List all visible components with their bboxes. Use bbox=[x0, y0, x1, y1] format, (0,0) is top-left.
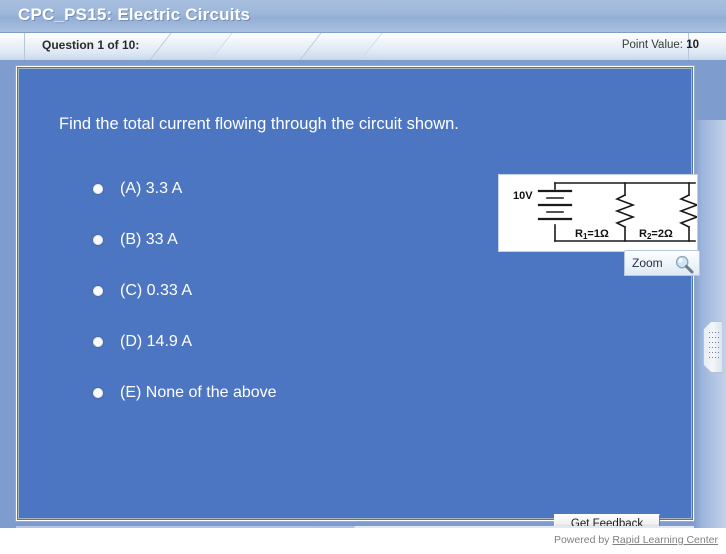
answer-option-a[interactable]: (A) 3.3 A bbox=[93, 180, 473, 231]
answer-options-list: (A) 3.3 A (B) 33 A (C) 0.33 A (D) 14.9 A… bbox=[93, 180, 473, 435]
header-slash-right bbox=[298, 33, 384, 61]
quiz-window: CPC_PS15: Electric Circuits Question 1 o… bbox=[0, 0, 726, 554]
answer-option-e[interactable]: (E) None of the above bbox=[93, 384, 473, 435]
window-title-bar: CPC_PS15: Electric Circuits bbox=[0, 0, 726, 33]
brand-link[interactable]: Rapid Learning Center bbox=[612, 534, 718, 546]
radio-button-b[interactable] bbox=[93, 235, 103, 245]
figure-r2-label: R2=2Ω bbox=[639, 228, 673, 241]
circuit-diagram-svg: 10V R1=1Ω R2=2Ω bbox=[499, 175, 697, 251]
answer-label-a: (A) 3.3 A bbox=[120, 180, 182, 198]
content-background: Find the total current flowing through t… bbox=[0, 60, 726, 528]
radio-button-d[interactable] bbox=[93, 337, 103, 347]
score-value: 0 points out of 0 bbox=[100, 531, 189, 543]
radio-button-c[interactable] bbox=[93, 286, 103, 296]
zoom-button[interactable]: Zoom bbox=[624, 250, 700, 276]
score-prefix: Score so far: bbox=[32, 531, 100, 543]
radio-button-e[interactable] bbox=[93, 388, 103, 398]
powered-by-label: Powered by bbox=[554, 534, 612, 546]
answer-option-c[interactable]: (C) 0.33 A bbox=[93, 282, 473, 333]
point-value: Point Value: 10 bbox=[622, 39, 699, 51]
answer-label-c: (C) 0.33 A bbox=[120, 282, 192, 300]
circuit-diagram-image[interactable]: 10V R1=1Ω R2=2Ω bbox=[498, 174, 698, 252]
header-divider-left bbox=[24, 33, 25, 60]
answer-option-d[interactable]: (D) 14.9 A bbox=[93, 333, 473, 384]
figure-r1-label: R1=1Ω bbox=[575, 228, 609, 241]
answer-label-d: (D) 14.9 A bbox=[120, 333, 192, 351]
radio-button-a[interactable] bbox=[93, 184, 103, 194]
point-value-label: Point Value: bbox=[622, 39, 683, 51]
answer-option-b[interactable]: (B) 33 A bbox=[93, 231, 473, 282]
point-value-number: 10 bbox=[686, 39, 699, 51]
figure-source-label: 10V bbox=[513, 190, 533, 202]
answer-label-e: (E) None of the above bbox=[120, 384, 277, 402]
question-header-bar: Question 1 of 10: Point Value: 10 bbox=[0, 33, 726, 61]
magnifier-icon bbox=[674, 254, 694, 274]
question-counter: Question 1 of 10: bbox=[42, 38, 139, 52]
resize-grip-handle[interactable] bbox=[703, 321, 722, 373]
question-text: Find the total current flowing through t… bbox=[59, 112, 459, 137]
question-card: Find the total current flowing through t… bbox=[16, 66, 694, 521]
grip-dots bbox=[709, 332, 721, 364]
answer-label-b: (B) 33 A bbox=[120, 231, 178, 249]
score-text: Score so far: 0 points out of 0 bbox=[32, 531, 189, 543]
zoom-button-label: Zoom bbox=[632, 256, 663, 270]
page-title: CPC_PS15: Electric Circuits bbox=[18, 5, 250, 25]
powered-by: Powered by Rapid Learning Center bbox=[554, 534, 718, 546]
header-slash-left bbox=[148, 33, 234, 61]
